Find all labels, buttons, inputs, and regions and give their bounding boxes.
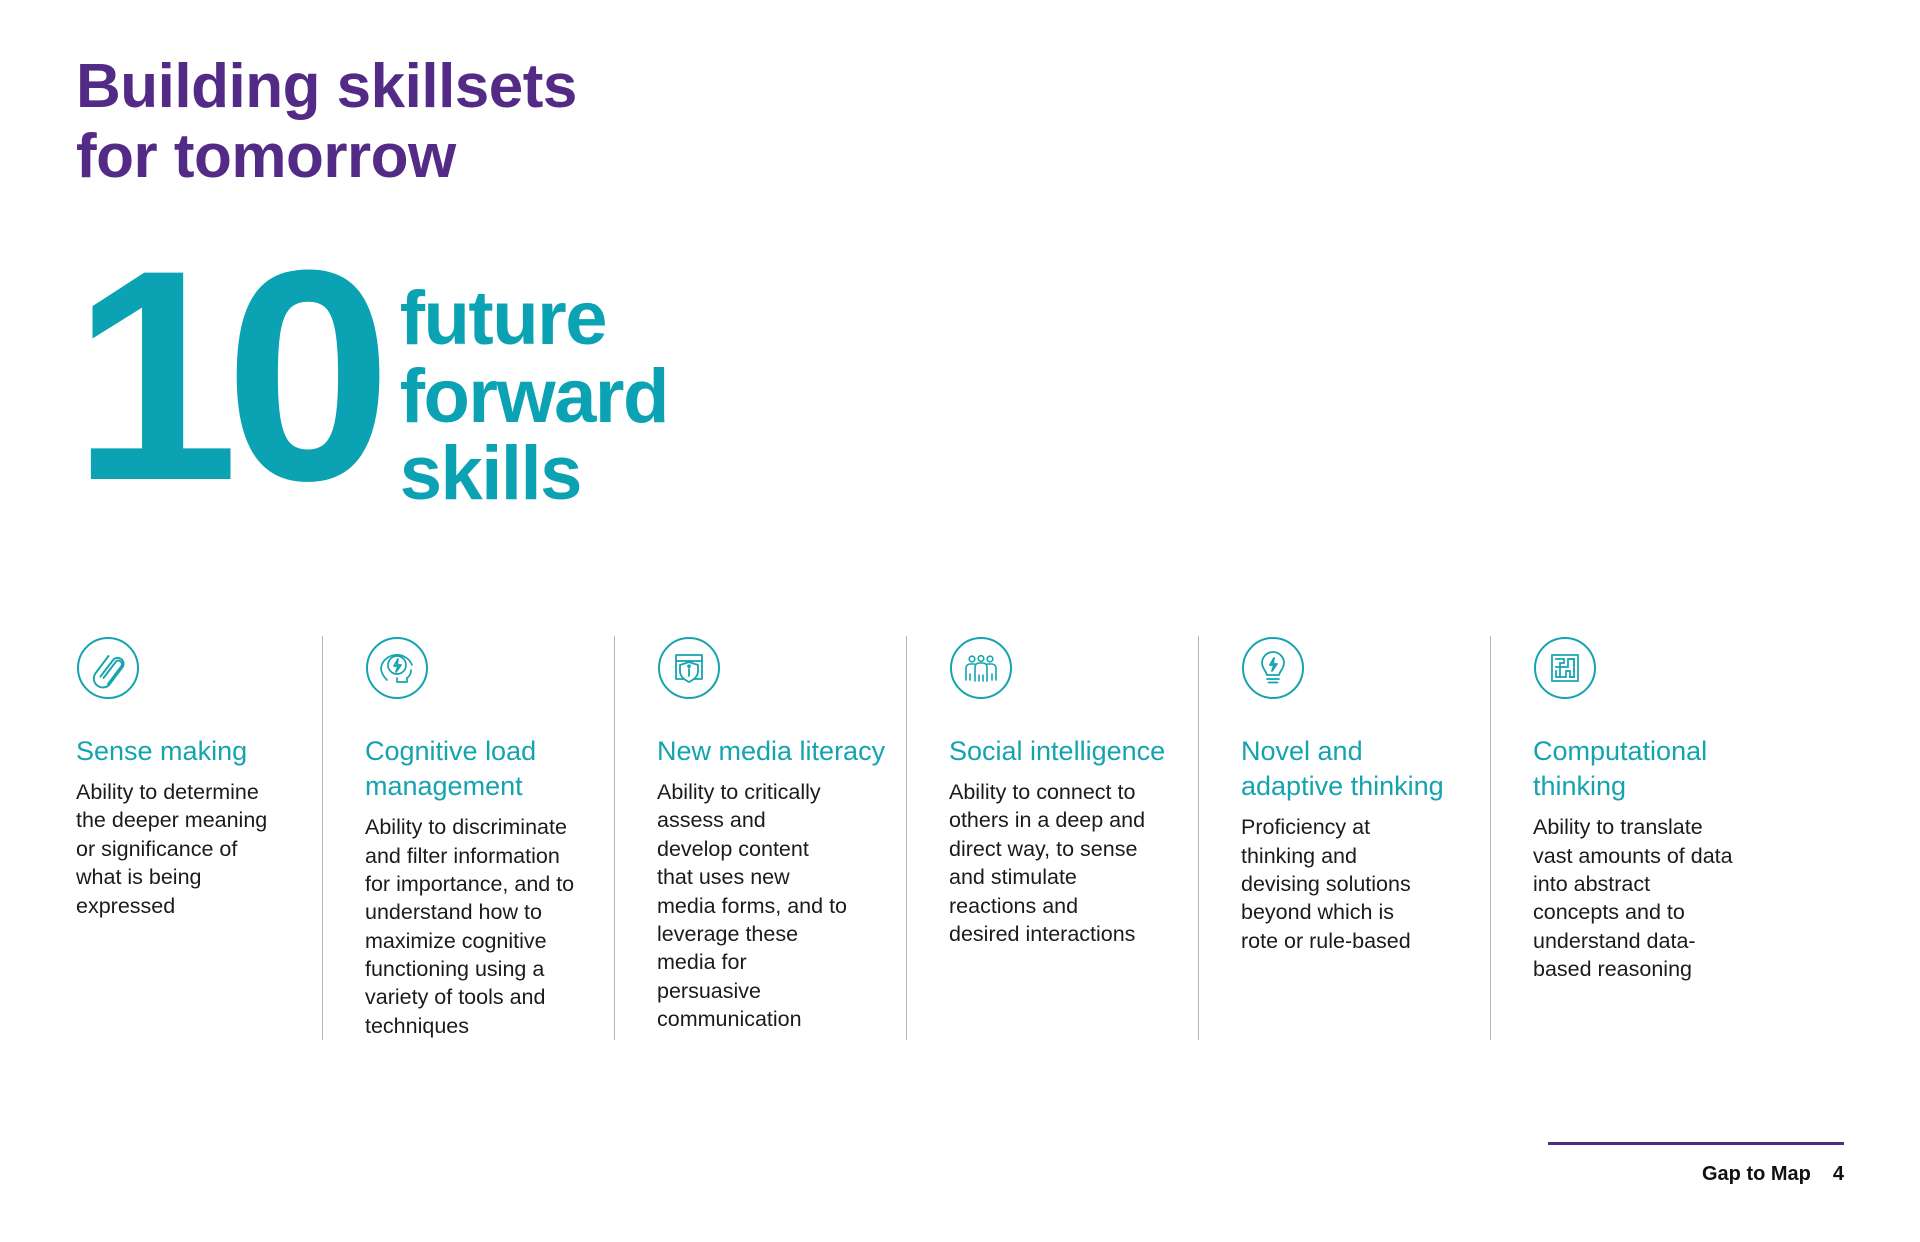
skill-title: Social intelligence (949, 734, 1178, 769)
skill-column-social-intelligence: Social intelligence Ability to connect t… (906, 636, 1198, 1040)
hero-word-1: future (400, 280, 668, 358)
skill-column-computational-thinking: Computational thinking Ability to transl… (1490, 636, 1782, 1040)
skill-column-new-media-literacy: New media literacy Ability to critically… (614, 636, 906, 1040)
skill-column-cognitive-load-management: Cognitive load management Ability to dis… (322, 636, 614, 1040)
paperclip-icon (76, 636, 140, 700)
hero-word-2: forward (400, 358, 668, 436)
footer-label: Gap to Map (1702, 1163, 1811, 1186)
hero-block: 10 future forward skills (72, 272, 668, 513)
skill-column-sense-making: Sense making Ability to determine the de… (76, 636, 322, 1040)
title-line-2: for tomorrow (76, 122, 976, 192)
title-line-1: Building skillsets (76, 52, 976, 122)
skill-body: Ability to critically assess and develop… (657, 778, 847, 1033)
skill-body: Ability to connect to others in a deep a… (949, 778, 1149, 948)
skills-columns: Sense making Ability to determine the de… (76, 636, 1844, 1040)
skill-title: Computational thinking (1533, 734, 1762, 804)
footer: Gap to Map4 (1548, 1142, 1844, 1186)
skill-body: Proficiency at thinking and devising sol… (1241, 813, 1436, 955)
skill-title: Sense making (76, 734, 302, 769)
lightbulb-lightning-icon (1241, 636, 1305, 700)
skill-column-novel-adaptive-thinking: Novel and adaptive thinking Proficiency … (1198, 636, 1490, 1040)
slide-root: Building skillsets for tomorrow 10 futur… (0, 0, 1920, 1242)
page-title: Building skillsets for tomorrow (76, 52, 976, 192)
hero-words: future forward skills (400, 280, 668, 513)
skill-body: Ability to determine the deeper meaning … (76, 778, 276, 920)
skill-body: Ability to discriminate and filter infor… (365, 813, 585, 1040)
skill-title: Novel and adaptive thinking (1241, 734, 1470, 804)
maze-circuit-icon (1533, 636, 1597, 700)
skill-body: Ability to translate vast amounts of dat… (1533, 813, 1733, 983)
hero-number: 10 (72, 258, 378, 492)
page-number: 4 (1833, 1163, 1844, 1186)
skill-title: Cognitive load management (365, 734, 594, 804)
skill-title: New media literacy (657, 734, 886, 769)
three-people-icon (949, 636, 1013, 700)
footer-divider (1548, 1142, 1844, 1145)
hero-word-3: skills (400, 435, 668, 513)
shield-browser-icon (657, 636, 721, 700)
head-lightning-icon (365, 636, 429, 700)
